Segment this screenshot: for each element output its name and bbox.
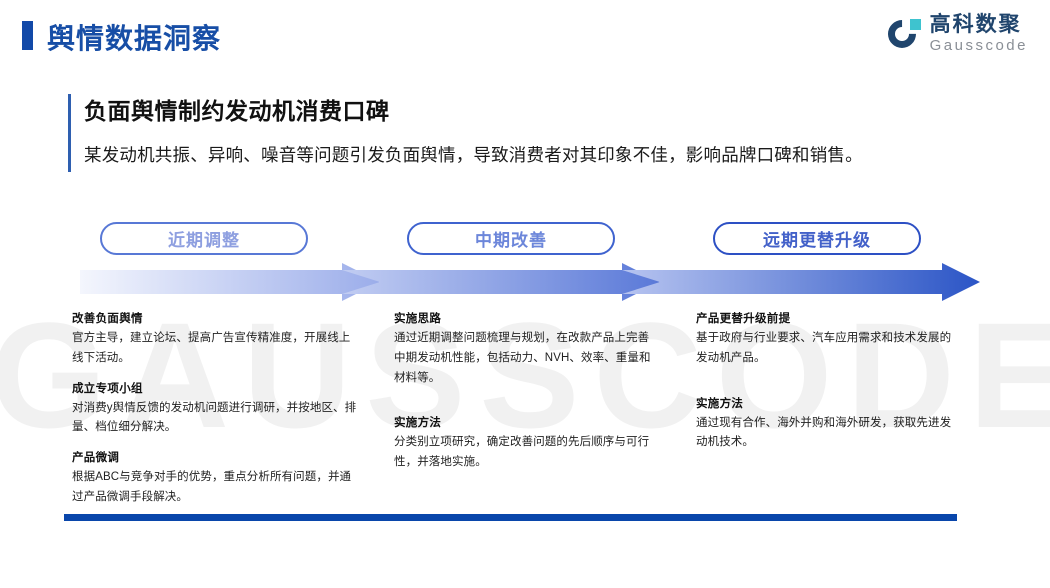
detail-block: 产品更替升级前提 基于政府与行业要求、汽车应用需求和技术发展的发动机产品。 <box>696 310 961 369</box>
detail-block: 实施方法 通过现有合作、海外并购和海外研发，获取先进发动机技术。 <box>696 395 961 454</box>
detail-block: 实施方法 分类别立项研究，确定改善问题的先后顺序与可行性，并落地实施。 <box>394 414 659 473</box>
detail-column-near-term: 改善负面舆情 官方主导，建立论坛、提高广告宣传精准度，开展线上线下活动。 成立专… <box>72 310 357 519</box>
stage-pill-label: 远期更替升级 <box>763 226 871 251</box>
detail-block: 成立专项小组 对消费y舆情反馈的发动机问题进行调研，并按地区、排量、档位细分解决… <box>72 380 357 439</box>
stage-pill-mid-term[interactable]: 中期改善 <box>407 222 615 255</box>
logo-name-cn: 高科数聚 <box>930 14 1028 35</box>
slide-canvas: GAUSSCODE 舆情数据洞察 高科数聚 Gausscode 负面舆情制约发动… <box>0 0 1050 588</box>
page-title: 舆情数据洞察 <box>47 17 221 57</box>
detail-block-body: 通过近期调整问题梳理与规划，在改款产品上完善中期发动机性能，包括动力、NVH、效… <box>394 329 659 388</box>
detail-block-body: 根据ABC与竞争对手的优势，重点分析所有问题，并通过产品微调手段解决。 <box>72 468 357 508</box>
detail-column-long-term: 产品更替升级前提 基于政府与行业要求、汽车应用需求和技术发展的发动机产品。 实施… <box>696 310 961 464</box>
lead-subtitle: 某发动机共振、异响、噪音等问题引发负面舆情，导致消费者对其印象不佳，影响品牌口碑… <box>84 142 958 167</box>
detail-block-title: 实施思路 <box>394 310 659 326</box>
detail-block-title: 产品更替升级前提 <box>696 310 961 326</box>
logo-square-icon <box>910 19 921 30</box>
detail-block-body: 对消费y舆情反馈的发动机问题进行调研，并按地区、排量、档位细分解决。 <box>72 399 357 439</box>
detail-block-title: 实施方法 <box>394 414 659 430</box>
logo-name-en: Gausscode <box>930 38 1028 53</box>
stage-pill-near-term[interactable]: 近期调整 <box>100 222 308 255</box>
stage-pill-long-term[interactable]: 远期更替升级 <box>713 222 921 255</box>
stage-pill-label: 近期调整 <box>168 226 240 251</box>
logo-text: 高科数聚 Gausscode <box>930 14 1028 53</box>
header-accent-mark <box>22 21 33 50</box>
detail-block-body: 基于政府与行业要求、汽车应用需求和技术发展的发动机产品。 <box>696 329 961 369</box>
detail-block: 改善负面舆情 官方主导，建立论坛、提高广告宣传精准度，开展线上线下活动。 <box>72 310 357 369</box>
detail-block-title: 产品微调 <box>72 449 357 465</box>
brand-logo: 高科数聚 Gausscode <box>888 14 1028 53</box>
lead-title: 负面舆情制约发动机消费口碑 <box>84 92 958 126</box>
detail-block-body: 官方主导，建立论坛、提高广告宣传精准度，开展线上线下活动。 <box>72 329 357 369</box>
detail-block-body: 通过现有合作、海外并购和海外研发，获取先进发动机技术。 <box>696 414 961 454</box>
detail-block: 产品微调 根据ABC与竞争对手的优势，重点分析所有问题，并通过产品微调手段解决。 <box>72 449 357 508</box>
stage-progression-arrow <box>80 262 980 302</box>
detail-block: 实施思路 通过近期调整问题梳理与规划，在改款产品上完善中期发动机性能，包括动力、… <box>394 310 659 388</box>
arrow-svg-icon <box>80 262 980 302</box>
slide-header: 舆情数据洞察 高科数聚 Gausscode <box>0 0 1050 78</box>
detail-block-body: 分类别立项研究，确定改善问题的先后顺序与可行性，并落地实施。 <box>394 433 659 473</box>
logo-glyph-icon <box>888 17 922 51</box>
stage-pill-label: 中期改善 <box>475 226 547 251</box>
detail-block-title: 实施方法 <box>696 395 961 411</box>
detail-block-title: 成立专项小组 <box>72 380 357 396</box>
detail-column-mid-term: 实施思路 通过近期调整问题梳理与规划，在改款产品上完善中期发动机性能，包括动力、… <box>394 310 659 484</box>
lead-statement: 负面舆情制约发动机消费口碑 某发动机共振、异响、噪音等问题引发负面舆情，导致消费… <box>68 92 958 167</box>
footer-accent-bar <box>64 514 957 521</box>
detail-block-title: 改善负面舆情 <box>72 310 357 326</box>
